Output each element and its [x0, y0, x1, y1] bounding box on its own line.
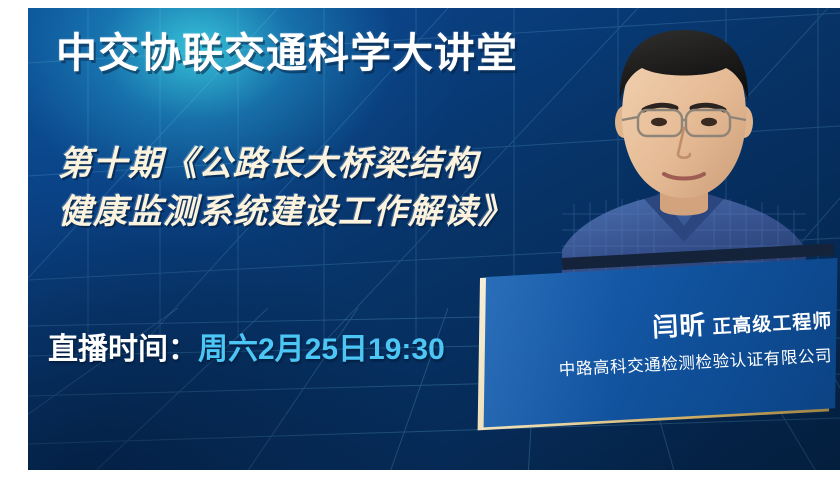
live-time-row: 直播时间：周六2月25日19:30 [48, 330, 445, 370]
live-event-poster: 中交协联交通科学大讲堂 第十期《公路长大桥梁结构 健康监测系统建设工作解读》 直… [0, 0, 840, 480]
page-title: 中交协联交通科学大讲堂 [56, 28, 518, 78]
episode-subtitle: 第十期《公路长大桥梁结构 健康监测系统建设工作解读》 [58, 140, 578, 236]
live-time-label: 直播时间： [48, 333, 198, 366]
episode-subtitle-line-1: 第十期《公路长大桥梁结构 [58, 140, 578, 188]
speaker-info-card [470, 250, 840, 440]
live-time-value: 周六2月25日19:30 [198, 333, 445, 366]
card-body [484, 258, 838, 427]
episode-subtitle-line-2: 健康监测系统建设工作解读》 [58, 188, 578, 236]
